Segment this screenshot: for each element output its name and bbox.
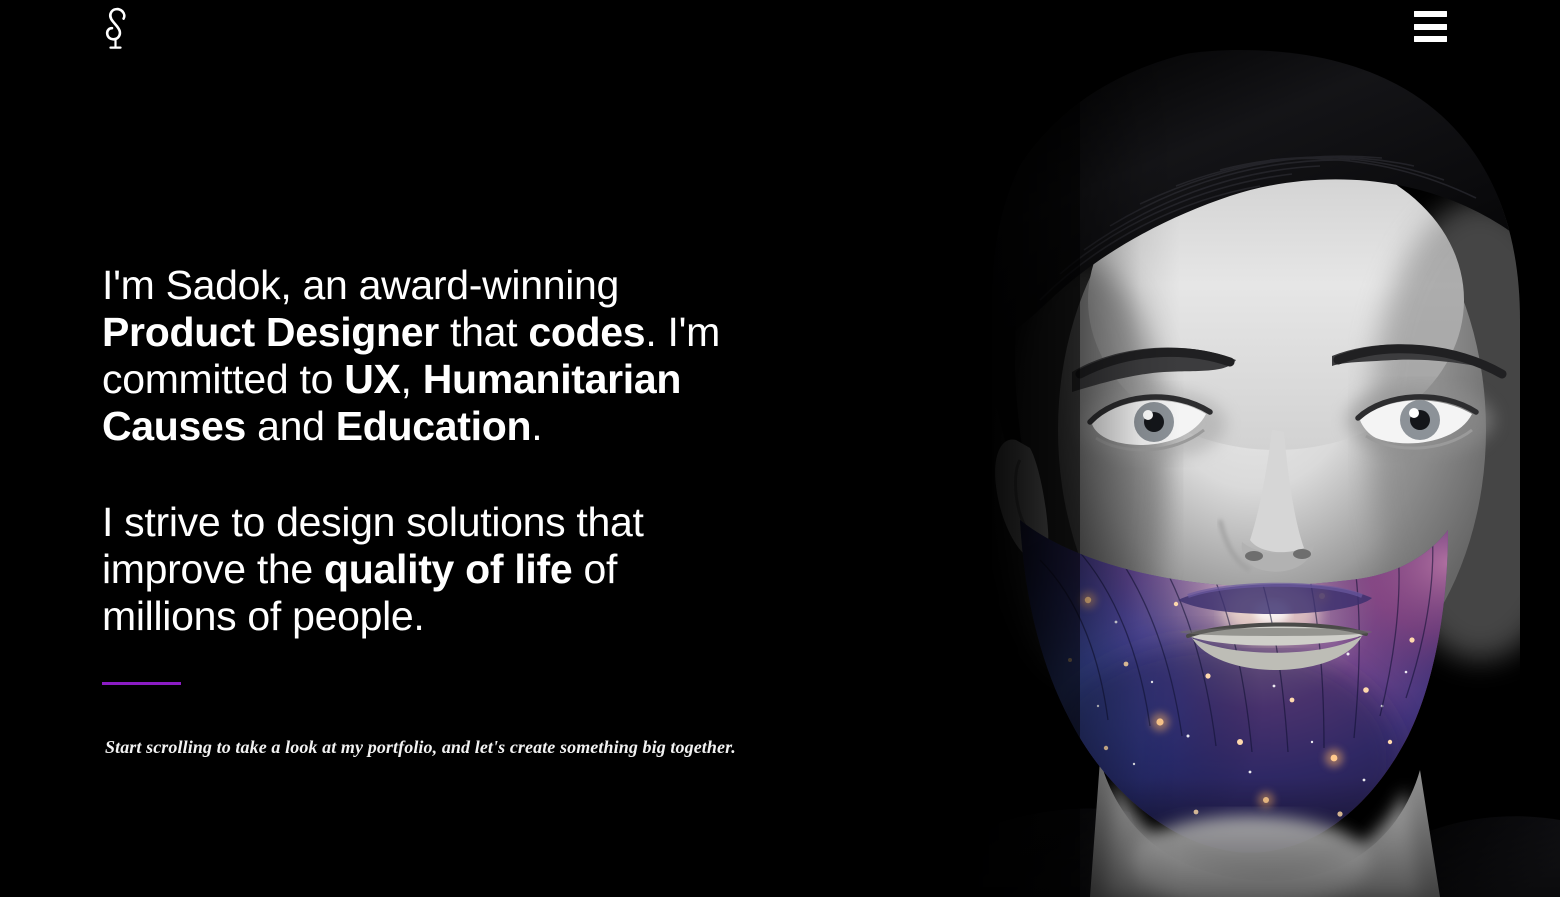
galaxy-beard [940,480,1540,897]
headline-text-4: , [401,356,423,402]
hero-content: I'm Sadok, an award-winning Product Desi… [102,262,802,759]
portrait-image [920,0,1560,897]
portrait-left-fade [920,0,1180,897]
headline-bold-codes: codes [528,309,645,355]
hamburger-bar-middle [1414,24,1447,30]
hamburger-menu-button[interactable] [1414,11,1447,42]
hero-section: I'm Sadok, an award-winning Product Desi… [0,0,1560,897]
site-header [0,0,1560,60]
scroll-prompt-text: Start scrolling to take a look at my por… [105,735,802,759]
headline-text-5: and [246,403,336,449]
sadok-monogram-logo[interactable] [96,5,136,53]
hamburger-bar-top [1414,11,1447,17]
hero-subheadline: I strive to design solutions that improv… [102,499,722,640]
headline-text-2: that [439,309,528,355]
portrait-bottom-fade [920,777,1560,897]
headline-bold-ux: UX [344,356,400,402]
portrait-illustration [920,0,1560,897]
logo-s-icon [96,5,136,53]
headline-bold-product-designer: Product Designer [102,309,439,355]
accent-divider [102,682,181,685]
hamburger-bar-bottom [1414,36,1447,42]
hero-headline: I'm Sadok, an award-winning Product Desi… [102,262,762,450]
headline-text-6: . [531,403,542,449]
headline-bold-education: Education [336,403,531,449]
subhead-bold-quality-of-life: quality of life [324,546,572,592]
headline-text-1: I'm Sadok, an award-winning [102,262,619,308]
